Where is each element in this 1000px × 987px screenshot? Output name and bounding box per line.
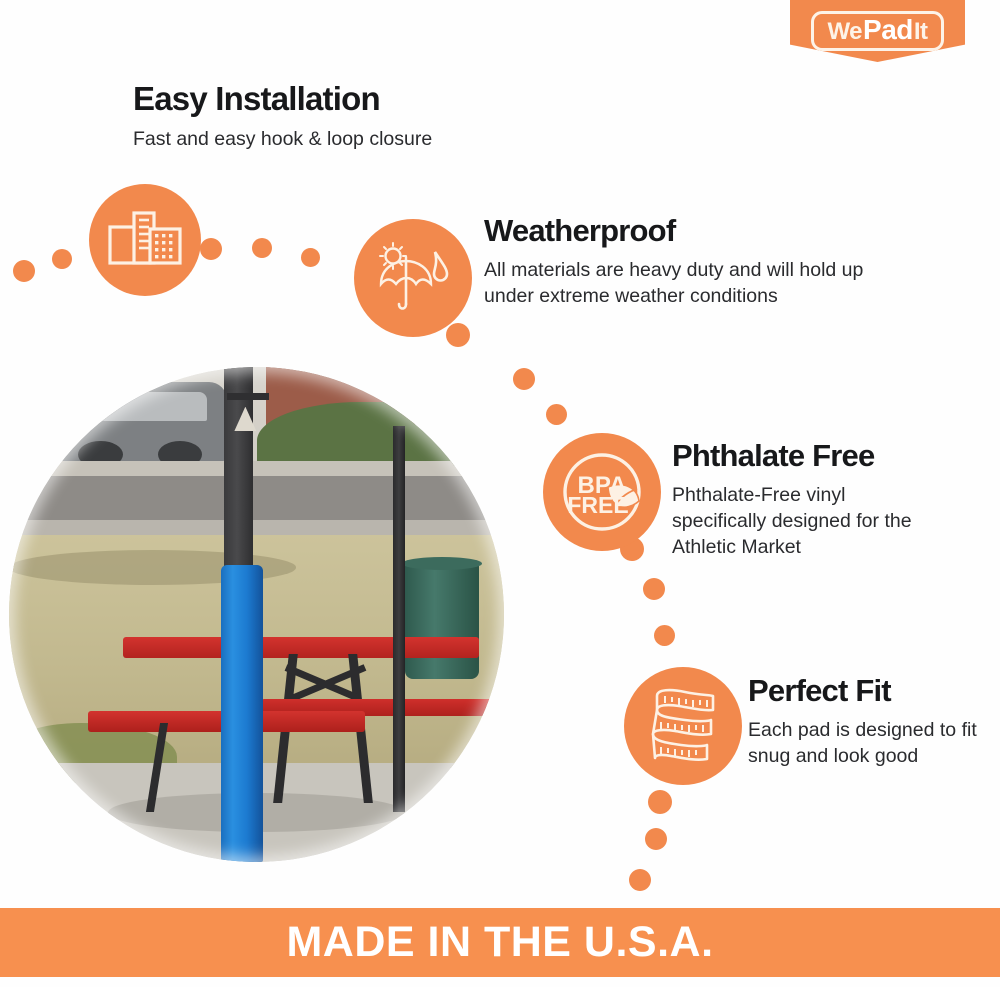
- made-in-usa-banner: MADE IN THE U.S.A.: [0, 908, 1000, 977]
- brand-logo-text-we: We: [827, 20, 862, 44]
- path-dot: [513, 368, 535, 390]
- path-dot: [52, 249, 72, 269]
- path-dot: [546, 404, 567, 425]
- tape-measure-icon: [624, 667, 742, 785]
- made-in-usa-text: MADE IN THE U.S.A.: [286, 918, 713, 967]
- path-dot: [648, 790, 672, 814]
- product-photo-scene: [9, 367, 504, 862]
- path-dot: [446, 323, 470, 347]
- path-dot: [645, 828, 667, 850]
- path-dot: [13, 260, 35, 282]
- brand-logo-plate: We Pad It: [811, 11, 943, 51]
- path-dot: [301, 248, 320, 267]
- feature-body-easy-installation: Fast and easy hook & loop closure: [133, 126, 432, 152]
- product-infographic: We Pad It Easy Installation Fast and eas…: [0, 0, 1000, 987]
- building-installation-icon: [89, 184, 201, 296]
- brand-logo-text-pad: Pad: [863, 16, 913, 44]
- path-dot: [643, 578, 665, 600]
- bpa-free-leaf-icon: BPA FREE: [543, 433, 661, 551]
- feature-body-perfect-fit: Each pad is designed to fit snug and loo…: [748, 717, 978, 769]
- path-dot: [654, 625, 675, 646]
- feature-body-weatherproof: All materials are heavy duty and will ho…: [484, 257, 914, 309]
- brand-logo-badge: We Pad It: [790, 0, 965, 62]
- path-dot: [629, 869, 651, 891]
- brand-logo-text-it: It: [914, 20, 928, 44]
- path-dot: [200, 238, 222, 260]
- bpa-icon-line2: FREE: [567, 492, 628, 518]
- umbrella-sun-raindrop-icon: [354, 219, 472, 337]
- feature-body-phthalate-free: Phthalate-Free vinyl specifically design…: [672, 482, 942, 560]
- feature-title-weatherproof: Weatherproof: [484, 213, 675, 249]
- path-dot: [252, 238, 272, 258]
- product-photo: [9, 367, 504, 862]
- feature-title-phthalate-free: Phthalate Free: [672, 438, 874, 474]
- feature-title-easy-installation: Easy Installation: [133, 80, 380, 118]
- feature-title-perfect-fit: Perfect Fit: [748, 673, 891, 709]
- blue-post-pad: [221, 565, 263, 862]
